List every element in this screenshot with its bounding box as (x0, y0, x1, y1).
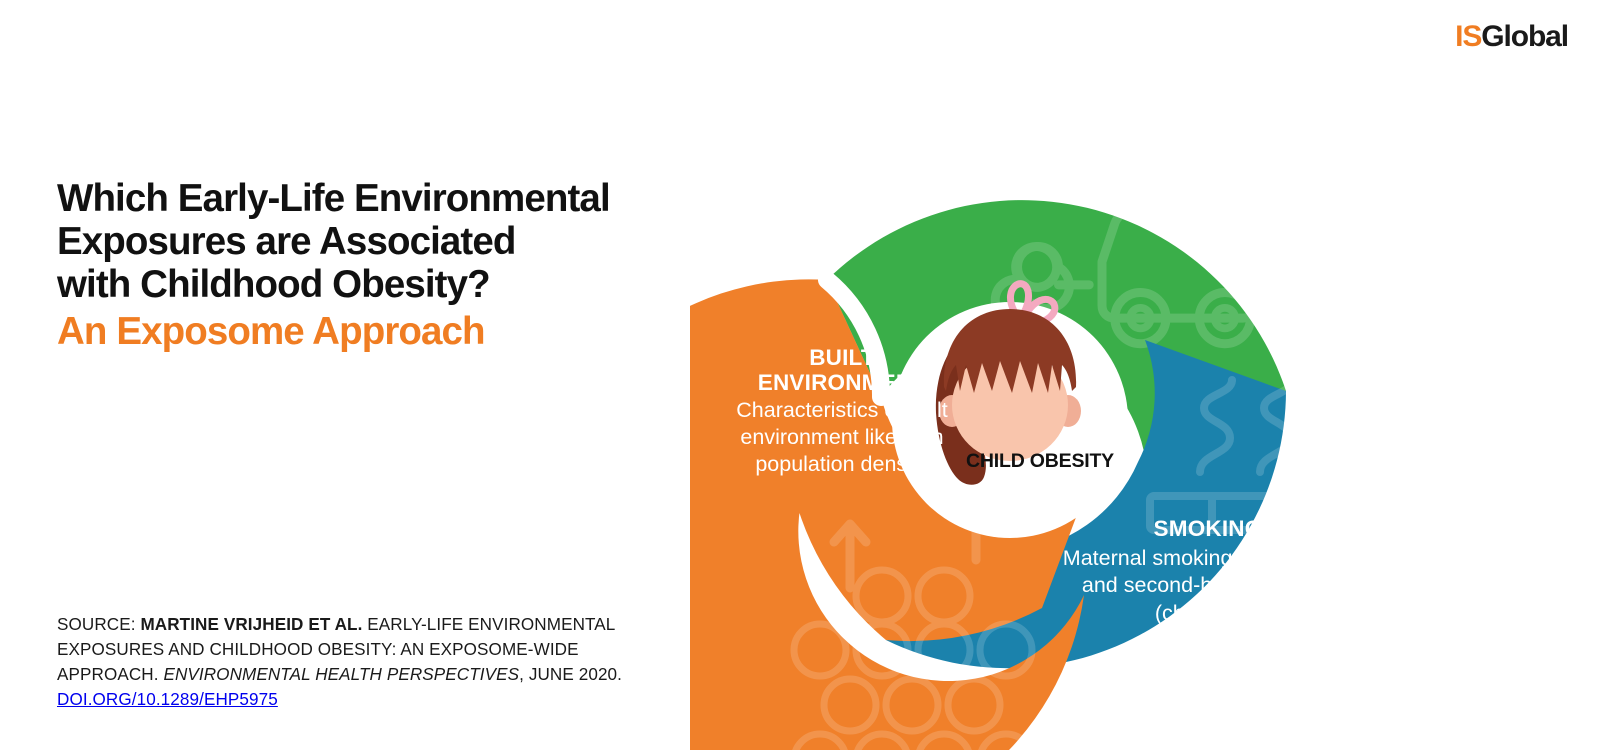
source-citation: SOURCE: MARTINE VRIJHEID ET AL. EARLY-LI… (57, 612, 657, 713)
source-prefix: SOURCE: (57, 615, 140, 634)
source-doi-link[interactable]: DOI.ORG/10.1289/EHP5975 (57, 690, 278, 709)
source-journal: ENVIRONMENTAL HEALTH PERSPECTIVES (163, 665, 519, 684)
page-subtitle: An Exposome Approach (57, 311, 737, 354)
title-line-3: with Childhood Obesity? (57, 263, 490, 306)
title-line-2: Exposures are Associated (57, 220, 515, 263)
source-authors: MARTINE VRIJHEID ET AL. (140, 615, 362, 634)
title-line-1: Which Early-Life Environmental (57, 177, 610, 220)
page-title: Which Early-Life Environmental Exposures… (57, 178, 737, 307)
swirl-svg (690, 10, 1330, 750)
logo-is-text: IS (1455, 20, 1481, 53)
title-block: Which Early-Life Environmental Exposures… (57, 178, 737, 354)
source-date: , JUNE 2020. (519, 665, 622, 684)
logo-global-text: Global (1481, 20, 1568, 53)
exposure-swirl-diagram: AIR POLLUTION Exposure to indoor and out… (690, 10, 1330, 750)
isglobal-logo: ISGlobal (1455, 22, 1568, 52)
